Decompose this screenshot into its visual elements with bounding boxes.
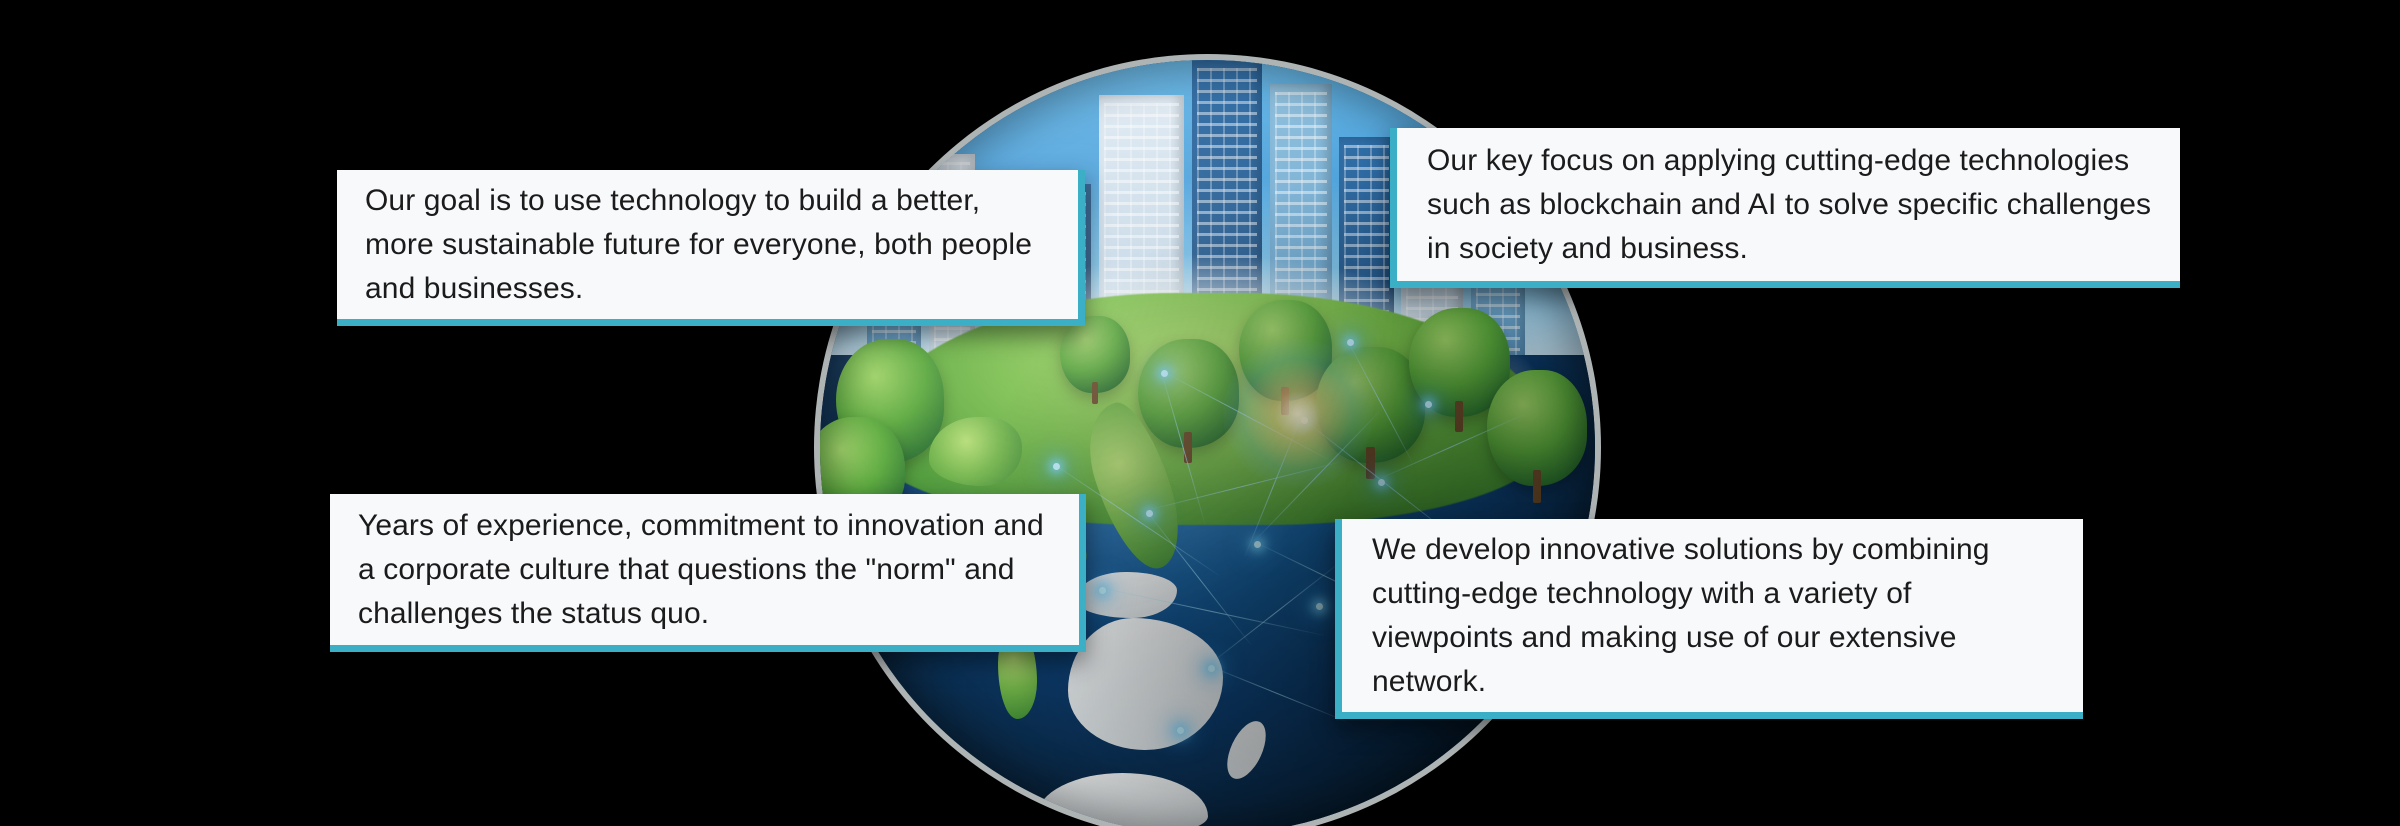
experience-panel: Years of experience, commitment to innov… xyxy=(330,494,1086,652)
vision-graphic-stage: Our goal is to use technology to build a… xyxy=(0,0,2400,826)
focus-panel-text: Our key focus on applying cutting-edge t… xyxy=(1427,139,2154,271)
solutions-panel-text: We develop innovative solutions by combi… xyxy=(1372,528,2057,704)
goal-panel-text: Our goal is to use technology to build a… xyxy=(365,179,1052,311)
goal-panel: Our goal is to use technology to build a… xyxy=(337,170,1085,326)
solutions-panel: We develop innovative solutions by combi… xyxy=(1335,519,2083,719)
focus-panel: Our key focus on applying cutting-edge t… xyxy=(1390,128,2180,288)
experience-panel-text: Years of experience, commitment to innov… xyxy=(358,504,1053,636)
